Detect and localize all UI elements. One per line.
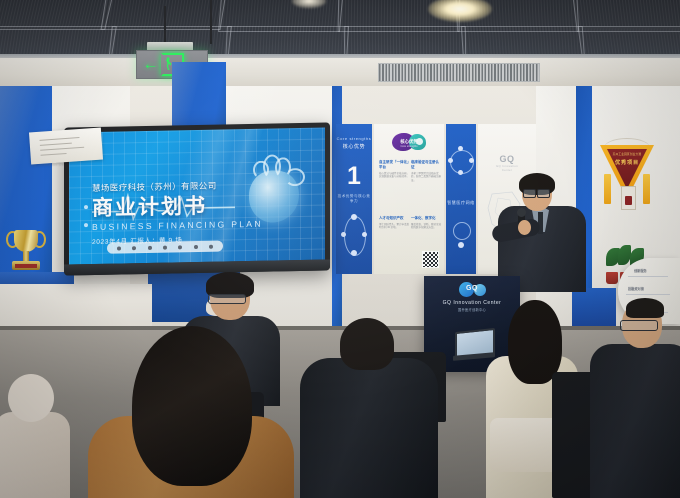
audience-woman-tan-jacket bbox=[88, 332, 294, 498]
person-body bbox=[300, 358, 438, 498]
banner-tassel bbox=[604, 174, 611, 204]
person-head bbox=[340, 318, 394, 370]
exit-left-arrow-icon: ← bbox=[143, 57, 159, 73]
slide-title: 商业计划书 bbox=[92, 190, 207, 222]
poster-text-block: 自主研发「一体化」平台 核心算法与硬件全栈自研，实现数据采集与分析闭环。 bbox=[379, 160, 409, 179]
network-node-icon bbox=[458, 170, 463, 175]
network-node-icon bbox=[341, 232, 346, 237]
board-rule bbox=[628, 276, 668, 277]
person-head bbox=[8, 374, 54, 422]
presenter-hand bbox=[518, 220, 531, 235]
audience-man-center bbox=[300, 318, 438, 498]
toolbar-back-icon[interactable] bbox=[117, 246, 121, 250]
person-hair bbox=[132, 326, 252, 486]
display-toolbar[interactable] bbox=[107, 241, 223, 254]
core-strengths-logo: 核心优势 Core strengths bbox=[392, 133, 426, 151]
block-heading: 自主研发「一体化」平台 bbox=[379, 160, 409, 170]
poster-core-strengths-number: Core strengths 核心优势 1 技术优势与核心竞争力 bbox=[336, 124, 372, 274]
poster-number: 1 bbox=[336, 164, 372, 189]
plant-pot bbox=[606, 272, 618, 284]
audience-person-left bbox=[0, 374, 70, 498]
network-diagram-icon bbox=[453, 222, 471, 240]
presenter bbox=[496, 176, 588, 292]
toolbar-pen-icon[interactable] bbox=[132, 246, 136, 250]
poster-label-en: Core strengths bbox=[336, 136, 372, 141]
slide-screen[interactable]: 慧场医疗科技（苏州）有限公司 商业计划书 BUSINESS FINANCING … bbox=[69, 128, 325, 265]
poster-text-block: 临床验证与注册认证 多家三甲医院完成临床试验，取得二类医疗器械注册证。 bbox=[411, 160, 441, 182]
trophy-bowl bbox=[14, 230, 38, 252]
poster-label: 智慧医疗网络 bbox=[446, 200, 476, 206]
network-node-icon bbox=[458, 146, 463, 151]
block-heading: 人才与知识产权 bbox=[379, 216, 409, 221]
network-node-icon bbox=[458, 242, 464, 248]
block-body: 核心算法与硬件全栈自研，实现数据采集与分析闭环。 bbox=[379, 172, 409, 179]
block-body: 覆盖筛查、诊断、随访全流程的数字化解决方案。 bbox=[411, 223, 441, 230]
eyeglasses-icon bbox=[208, 294, 246, 304]
gold-trophy-cup bbox=[4, 228, 48, 276]
person-hair bbox=[626, 298, 664, 318]
gq-logo-text: GQ bbox=[493, 154, 522, 164]
board-heading: 创新服务 bbox=[634, 268, 647, 273]
qr-code-icon bbox=[422, 251, 439, 268]
board-rule bbox=[626, 294, 670, 295]
poster-network: 智慧医疗网络 bbox=[446, 124, 476, 274]
toolbar-eraser-icon[interactable] bbox=[148, 245, 152, 249]
hanger-wire bbox=[210, 0, 212, 44]
poster-core-strengths-detail: 核心优势 Core strengths 自主研发「一体化」平台 核心算法与硬件全… bbox=[374, 124, 444, 274]
eyeglasses-icon bbox=[523, 189, 550, 196]
podium-logo-text: GQ bbox=[458, 285, 486, 292]
podium-gq-logo: GQ bbox=[458, 282, 486, 297]
banner-header-text: 苏州工业园区创业大赛 bbox=[607, 152, 647, 156]
block-heading: 临床验证与注册认证 bbox=[411, 160, 441, 170]
toolbar-pointer-icon[interactable] bbox=[163, 245, 167, 249]
poster-text-block: 人才与知识产权 博士团队牵头，累计申请发明专利 30 余项。 bbox=[379, 216, 409, 230]
person-body bbox=[0, 412, 70, 498]
ceiling bbox=[0, 0, 680, 62]
printed-document bbox=[29, 128, 103, 165]
logo-text-en: Core strengths bbox=[392, 145, 426, 148]
presentation-room-photo: ← → GQ GQ Innovation Center Core strengt… bbox=[0, 0, 680, 498]
poster-text-block: 一体化、数字化 覆盖筛查、诊断、随访全流程的数字化解决方案。 bbox=[411, 216, 441, 230]
gq-logo-subtitle: GQ Innovation Center bbox=[493, 164, 522, 172]
eyeglasses-icon bbox=[620, 320, 658, 331]
network-node-icon bbox=[351, 250, 357, 256]
block-body: 多家三甲医院完成临床试验，取得二类医疗器械注册证。 bbox=[411, 172, 441, 183]
block-body: 博士团队牵头，累计申请发明专利 30 余项。 bbox=[379, 223, 409, 230]
toolbar-apps-icon[interactable] bbox=[194, 244, 198, 248]
toolbar-more-icon[interactable] bbox=[209, 244, 213, 248]
banner-tassel bbox=[643, 174, 650, 204]
block-heading: 一体化、数字化 bbox=[411, 216, 441, 221]
bulkhead-soffit bbox=[0, 58, 680, 88]
heart-vessel bbox=[285, 168, 305, 186]
poster-label-cn: 核心优势 bbox=[336, 143, 372, 150]
audience-man-right bbox=[596, 300, 680, 498]
network-node-icon bbox=[351, 214, 357, 220]
trophy-plaque bbox=[15, 264, 37, 268]
gq-logo: GQ GQ Innovation Center bbox=[493, 154, 522, 172]
person-body bbox=[590, 344, 680, 498]
board-heading: 投融资对接 bbox=[628, 286, 644, 291]
award-pennant-banner: 苏州工业园区创业大赛 优秀项目 bbox=[600, 138, 654, 216]
toolbar-home-icon[interactable] bbox=[178, 245, 182, 249]
hvac-vent-grille bbox=[378, 63, 540, 82]
presentation-display[interactable]: 慧场医疗科技（苏州）有限公司 商业计划书 BUSINESS FINANCING … bbox=[64, 122, 330, 275]
hanger-wire bbox=[164, 6, 166, 44]
banner-badge bbox=[621, 186, 636, 210]
poster-caption: 技术优势与核心竞争力 bbox=[336, 194, 372, 204]
person-hair bbox=[508, 300, 562, 384]
network-node-icon bbox=[362, 232, 367, 237]
network-node-icon bbox=[448, 158, 453, 163]
network-node-icon bbox=[469, 158, 474, 163]
